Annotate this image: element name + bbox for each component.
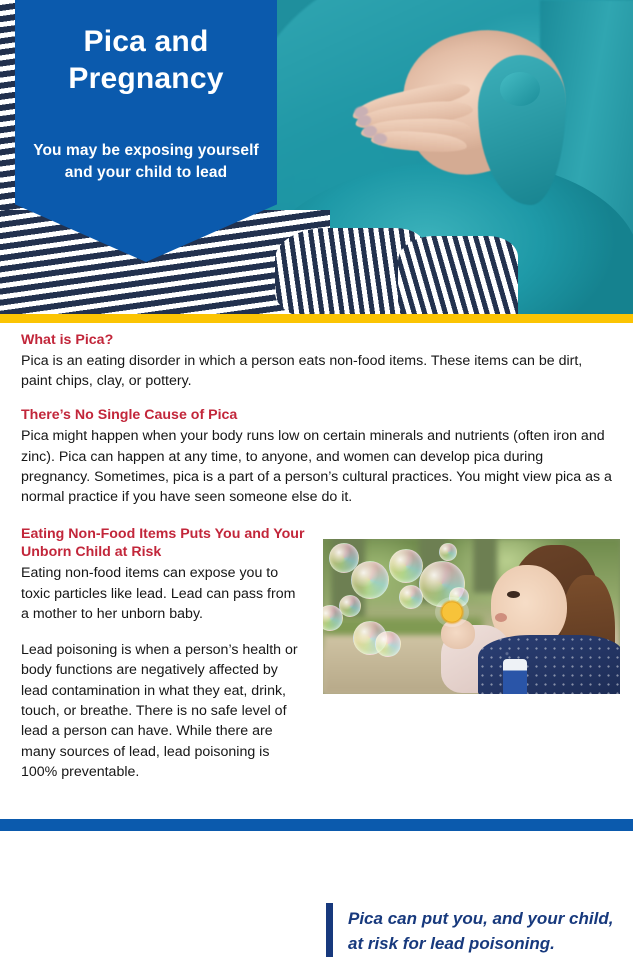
girl-vest-pattern [478, 635, 620, 694]
bubble [351, 561, 389, 599]
section-what-is-pica: What is Pica? Pica is an eating disorder… [0, 331, 633, 391]
bubble [399, 585, 423, 609]
bubble-bottle [503, 659, 527, 694]
section-no-single-cause: There’s No Single Cause of Pica Pica mig… [0, 406, 633, 507]
dress-bow-knot [500, 72, 540, 106]
girl-lips [495, 613, 507, 622]
footer-bar [0, 819, 633, 831]
bubble [375, 631, 401, 657]
hero-section: Pica and Pregnancy You may be exposing y… [0, 0, 633, 314]
bubble [439, 543, 457, 561]
girl-eye [507, 591, 520, 598]
section-heading: Eating Non-Food Items Puts You and Your … [21, 525, 306, 563]
section-heading: There’s No Single Cause of Pica [21, 406, 613, 425]
page-title: Pica and Pregnancy [27, 24, 265, 97]
pull-quote-text: Pica can put you, and your child, at ris… [348, 903, 626, 957]
striped-sleeve-second [398, 236, 518, 314]
pull-quote-accent-bar [326, 903, 333, 957]
section-body-continued: Lead poisoning is when a person’s health… [21, 640, 303, 782]
spacer [21, 624, 300, 640]
spacer [0, 391, 633, 406]
section-body: Eating non-food items can expose you to … [21, 563, 303, 624]
section-body: Pica might happen when your body runs lo… [21, 426, 613, 507]
photo-girl-blowing-bubbles [323, 539, 620, 694]
two-column-zone: Eating Non-Food Items Puts You and Your … [0, 525, 633, 783]
page-subtitle: You may be exposing yourself and your ch… [27, 140, 265, 183]
bubble-wand [435, 597, 469, 627]
section-eating-non-food-items: Eating Non-Food Items Puts You and Your … [0, 525, 300, 783]
tree-trunk [473, 539, 497, 593]
fingernail [373, 133, 388, 145]
gold-divider [0, 314, 633, 323]
content-area: What is Pica? Pica is an eating disorder… [0, 331, 633, 782]
section-heading: What is Pica? [21, 331, 613, 350]
section-body: Pica is an eating disorder in which a pe… [21, 351, 613, 392]
pull-quote: Pica can put you, and your child, at ris… [326, 903, 626, 957]
bubble [389, 549, 423, 583]
